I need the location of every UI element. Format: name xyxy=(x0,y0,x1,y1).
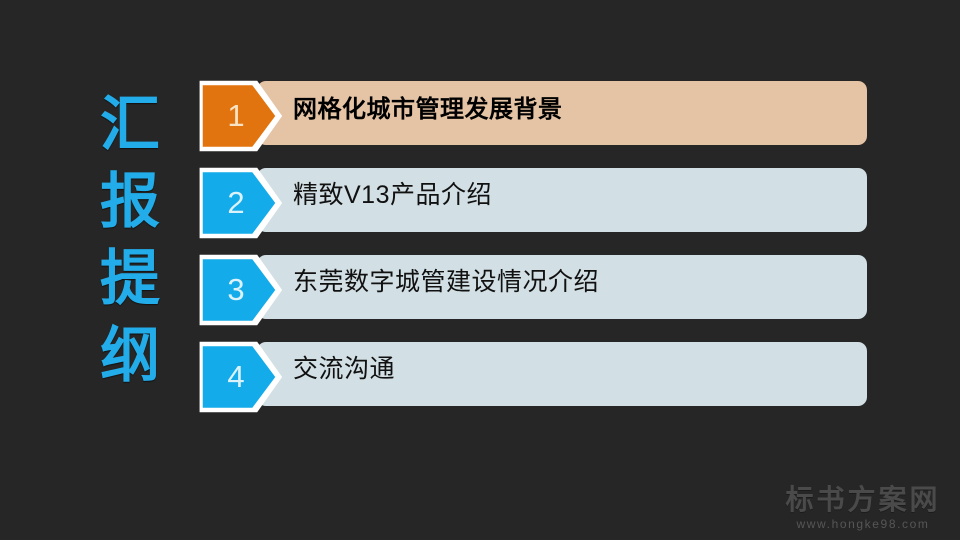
page-title-char-3: 提 xyxy=(88,240,172,317)
outline-item-2-number: 2 xyxy=(227,187,244,218)
watermark-url: www.hongke98.com xyxy=(778,516,948,532)
presentation-slide: 汇 报 提 纲 1 网格化城市管理发展背景 2 精致V13产品介绍 xyxy=(0,0,960,540)
page-title: 汇 报 提 纲 xyxy=(88,86,172,394)
outline-item-2-badge[interactable]: 2 xyxy=(197,161,283,245)
watermark-brand: 标书方案网 xyxy=(778,485,948,515)
outline-item-1[interactable]: 1 网格化城市管理发展背景 xyxy=(197,74,867,160)
outline-item-3-label: 东莞数字城管建设情况介绍 xyxy=(293,248,599,312)
outline-item-1-number: 1 xyxy=(227,100,244,131)
outline-item-4-badge[interactable]: 4 xyxy=(197,335,283,419)
outline-item-4-number: 4 xyxy=(227,361,244,392)
outline-item-3[interactable]: 3 东莞数字城管建设情况介绍 xyxy=(197,248,867,334)
page-title-char-4: 纲 xyxy=(88,317,172,394)
watermark: 标书方案网 www.hongke98.com xyxy=(778,485,948,532)
outline-item-1-badge[interactable]: 1 xyxy=(197,74,283,158)
outline-item-2-label: 精致V13产品介绍 xyxy=(293,161,492,225)
outline-item-3-badge[interactable]: 3 xyxy=(197,248,283,332)
outline-item-4-label: 交流沟通 xyxy=(293,335,395,399)
outline-item-1-label: 网格化城市管理发展背景 xyxy=(293,74,563,138)
outline-item-2[interactable]: 2 精致V13产品介绍 xyxy=(197,161,867,247)
page-title-char-2: 报 xyxy=(88,163,172,240)
outline-item-3-number: 3 xyxy=(227,274,244,305)
outline-item-4[interactable]: 4 交流沟通 xyxy=(197,335,867,421)
page-title-char-1: 汇 xyxy=(88,86,172,163)
